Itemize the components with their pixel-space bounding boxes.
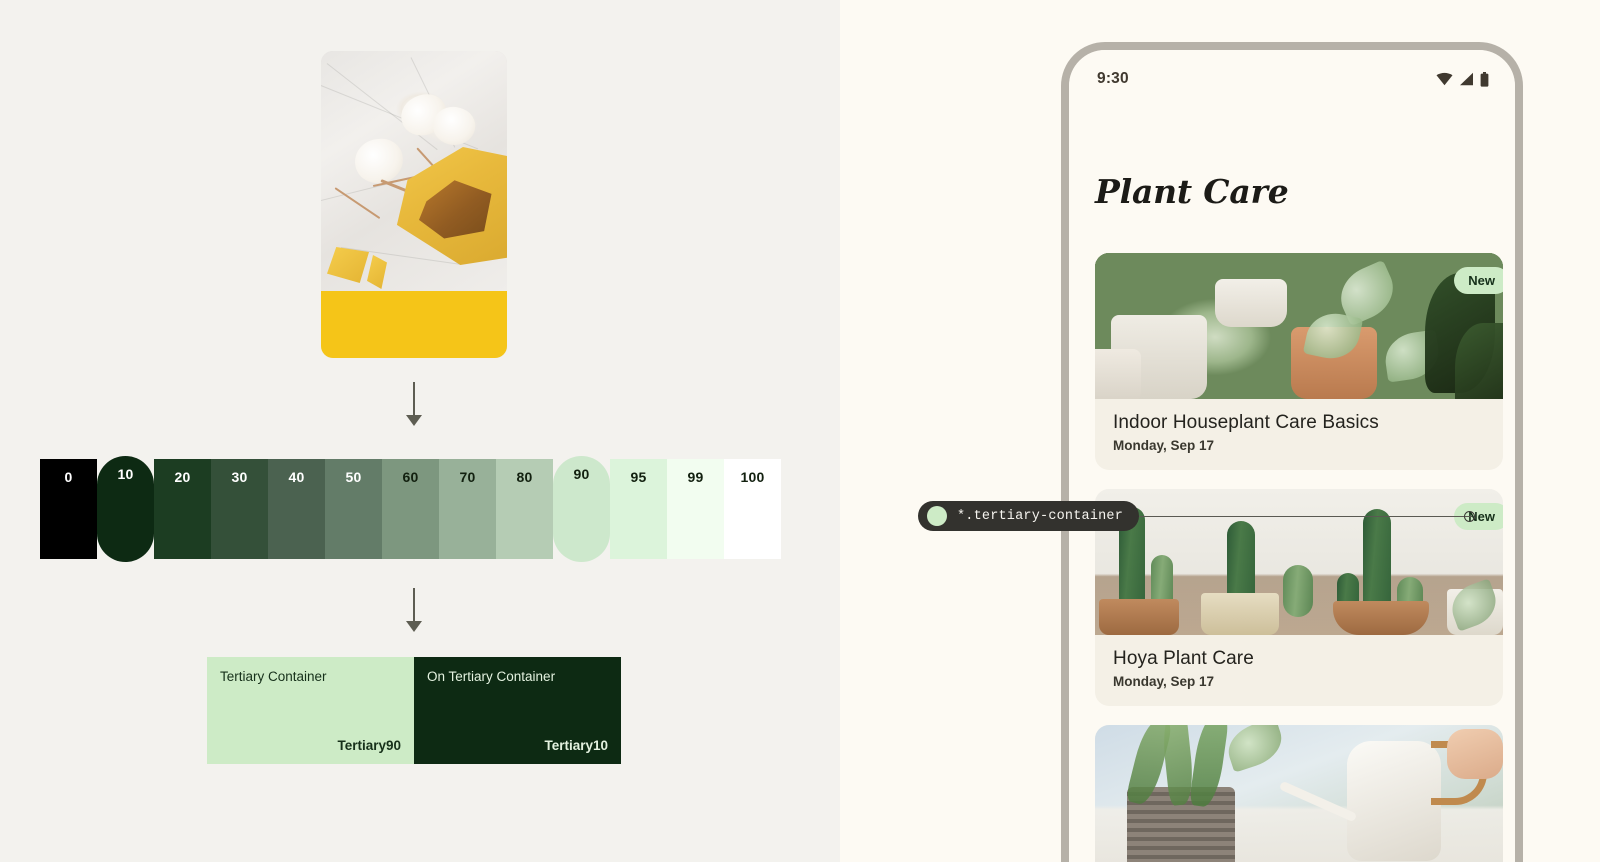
arrow-palette-to-tokens xyxy=(403,588,425,634)
token-card-row: Tertiary ContainerTertiary90On Tertiary … xyxy=(207,657,621,764)
token-callout-tooltip: *.tertiary-container xyxy=(918,501,1139,531)
card-date: Monday, Sep 17 xyxy=(1113,438,1485,453)
tone-label: 80 xyxy=(517,469,533,559)
watering-can-spout xyxy=(1279,781,1358,823)
tone-label: 40 xyxy=(289,469,305,559)
tone-label: 0 xyxy=(65,469,73,559)
wifi-icon xyxy=(1436,72,1453,86)
tone-label: 20 xyxy=(175,469,191,559)
tone-label: 60 xyxy=(403,469,419,559)
plant-card[interactable]: New Hoya Plant Care Monday, Sep 17 xyxy=(1095,489,1503,706)
tone-label: 95 xyxy=(631,469,647,559)
tone-label: 70 xyxy=(460,469,476,559)
card-date: Monday, Sep 17 xyxy=(1113,674,1485,689)
tone-label: 90 xyxy=(574,466,590,562)
callout-leader-line xyxy=(1096,516,1472,517)
amber-flake-a xyxy=(327,247,369,283)
card-title: Indoor Houseplant Care Basics xyxy=(1113,412,1485,434)
watering-plant-photo xyxy=(1095,725,1503,862)
tone-swatch-70[interactable]: 70 xyxy=(439,459,496,559)
plant-card-list: New Indoor Houseplant Care Basics Monday… xyxy=(1095,253,1503,862)
source-image-card[interactable] xyxy=(321,51,507,358)
tone-swatch-60[interactable]: 60 xyxy=(382,459,439,559)
tone-swatch-95[interactable]: 95 xyxy=(610,459,667,559)
card-text: Indoor Houseplant Care Basics Monday, Se… xyxy=(1095,399,1503,470)
page-title: Plant Care xyxy=(1095,172,1289,211)
succulent-pots-photo: New xyxy=(1095,253,1503,399)
tone-swatch-90[interactable]: 90 xyxy=(553,456,610,562)
callout-endpoint-marker xyxy=(1464,511,1475,522)
tone-swatch-80[interactable]: 80 xyxy=(496,459,553,559)
token-card-title: Tertiary Container xyxy=(220,669,401,684)
tone-swatch-0[interactable]: 0 xyxy=(40,459,97,559)
extracted-color-swatch xyxy=(321,291,507,358)
plant-card[interactable]: New Indoor Houseplant Care Basics Monday… xyxy=(1095,253,1503,470)
tone-swatch-50[interactable]: 50 xyxy=(325,459,382,559)
tone-label: 10 xyxy=(118,466,134,562)
plant-card[interactable] xyxy=(1095,725,1503,862)
tone-swatch-10[interactable]: 10 xyxy=(97,456,154,562)
battery-icon xyxy=(1480,72,1489,87)
callout-label: *.tertiary-container xyxy=(957,509,1123,524)
hand-shape xyxy=(1447,729,1503,779)
cellular-signal-icon xyxy=(1459,72,1474,86)
status-badge: New xyxy=(1454,267,1503,294)
watering-can-body xyxy=(1347,741,1441,861)
screenshot-root: 01020304050607080909599100 Tertiary Cont… xyxy=(0,0,1600,862)
token-card-title: On Tertiary Container xyxy=(427,669,608,684)
tone-label: 30 xyxy=(232,469,248,559)
token-card[interactable]: Tertiary ContainerTertiary90 xyxy=(207,657,414,764)
card-title: Hoya Plant Care xyxy=(1113,648,1485,670)
amber-flake-b xyxy=(367,255,387,289)
tone-swatch-100[interactable]: 100 xyxy=(724,459,781,559)
tone-swatch-20[interactable]: 20 xyxy=(154,459,211,559)
status-icons xyxy=(1436,72,1489,87)
tone-label: 50 xyxy=(346,469,362,559)
tonal-palette-ramp: 01020304050607080909599100 xyxy=(40,459,781,559)
tone-swatch-30[interactable]: 30 xyxy=(211,459,268,559)
status-bar: 9:30 xyxy=(1069,50,1515,108)
arrow-image-to-palette xyxy=(403,382,425,428)
token-card[interactable]: On Tertiary ContainerTertiary10 xyxy=(414,657,621,764)
source-image-dried-flowers-amber xyxy=(321,51,507,291)
tone-label: 100 xyxy=(741,469,765,559)
card-text: Hoya Plant Care Monday, Sep 17 xyxy=(1095,635,1503,706)
status-time: 9:30 xyxy=(1097,70,1129,88)
phone-screen: 9:30 Plant Care xyxy=(1069,50,1515,862)
tone-swatch-99[interactable]: 99 xyxy=(667,459,724,559)
token-card-code: Tertiary10 xyxy=(427,738,608,753)
palette-derivation-panel: 01020304050607080909599100 Tertiary Cont… xyxy=(0,0,840,862)
tone-swatch-40[interactable]: 40 xyxy=(268,459,325,559)
tone-label: 99 xyxy=(688,469,704,559)
token-card-code: Tertiary90 xyxy=(220,738,401,753)
cactus-row-photo: New xyxy=(1095,489,1503,635)
callout-color-swatch xyxy=(927,506,947,526)
phone-mockup-frame: 9:30 Plant Care xyxy=(1061,42,1523,862)
